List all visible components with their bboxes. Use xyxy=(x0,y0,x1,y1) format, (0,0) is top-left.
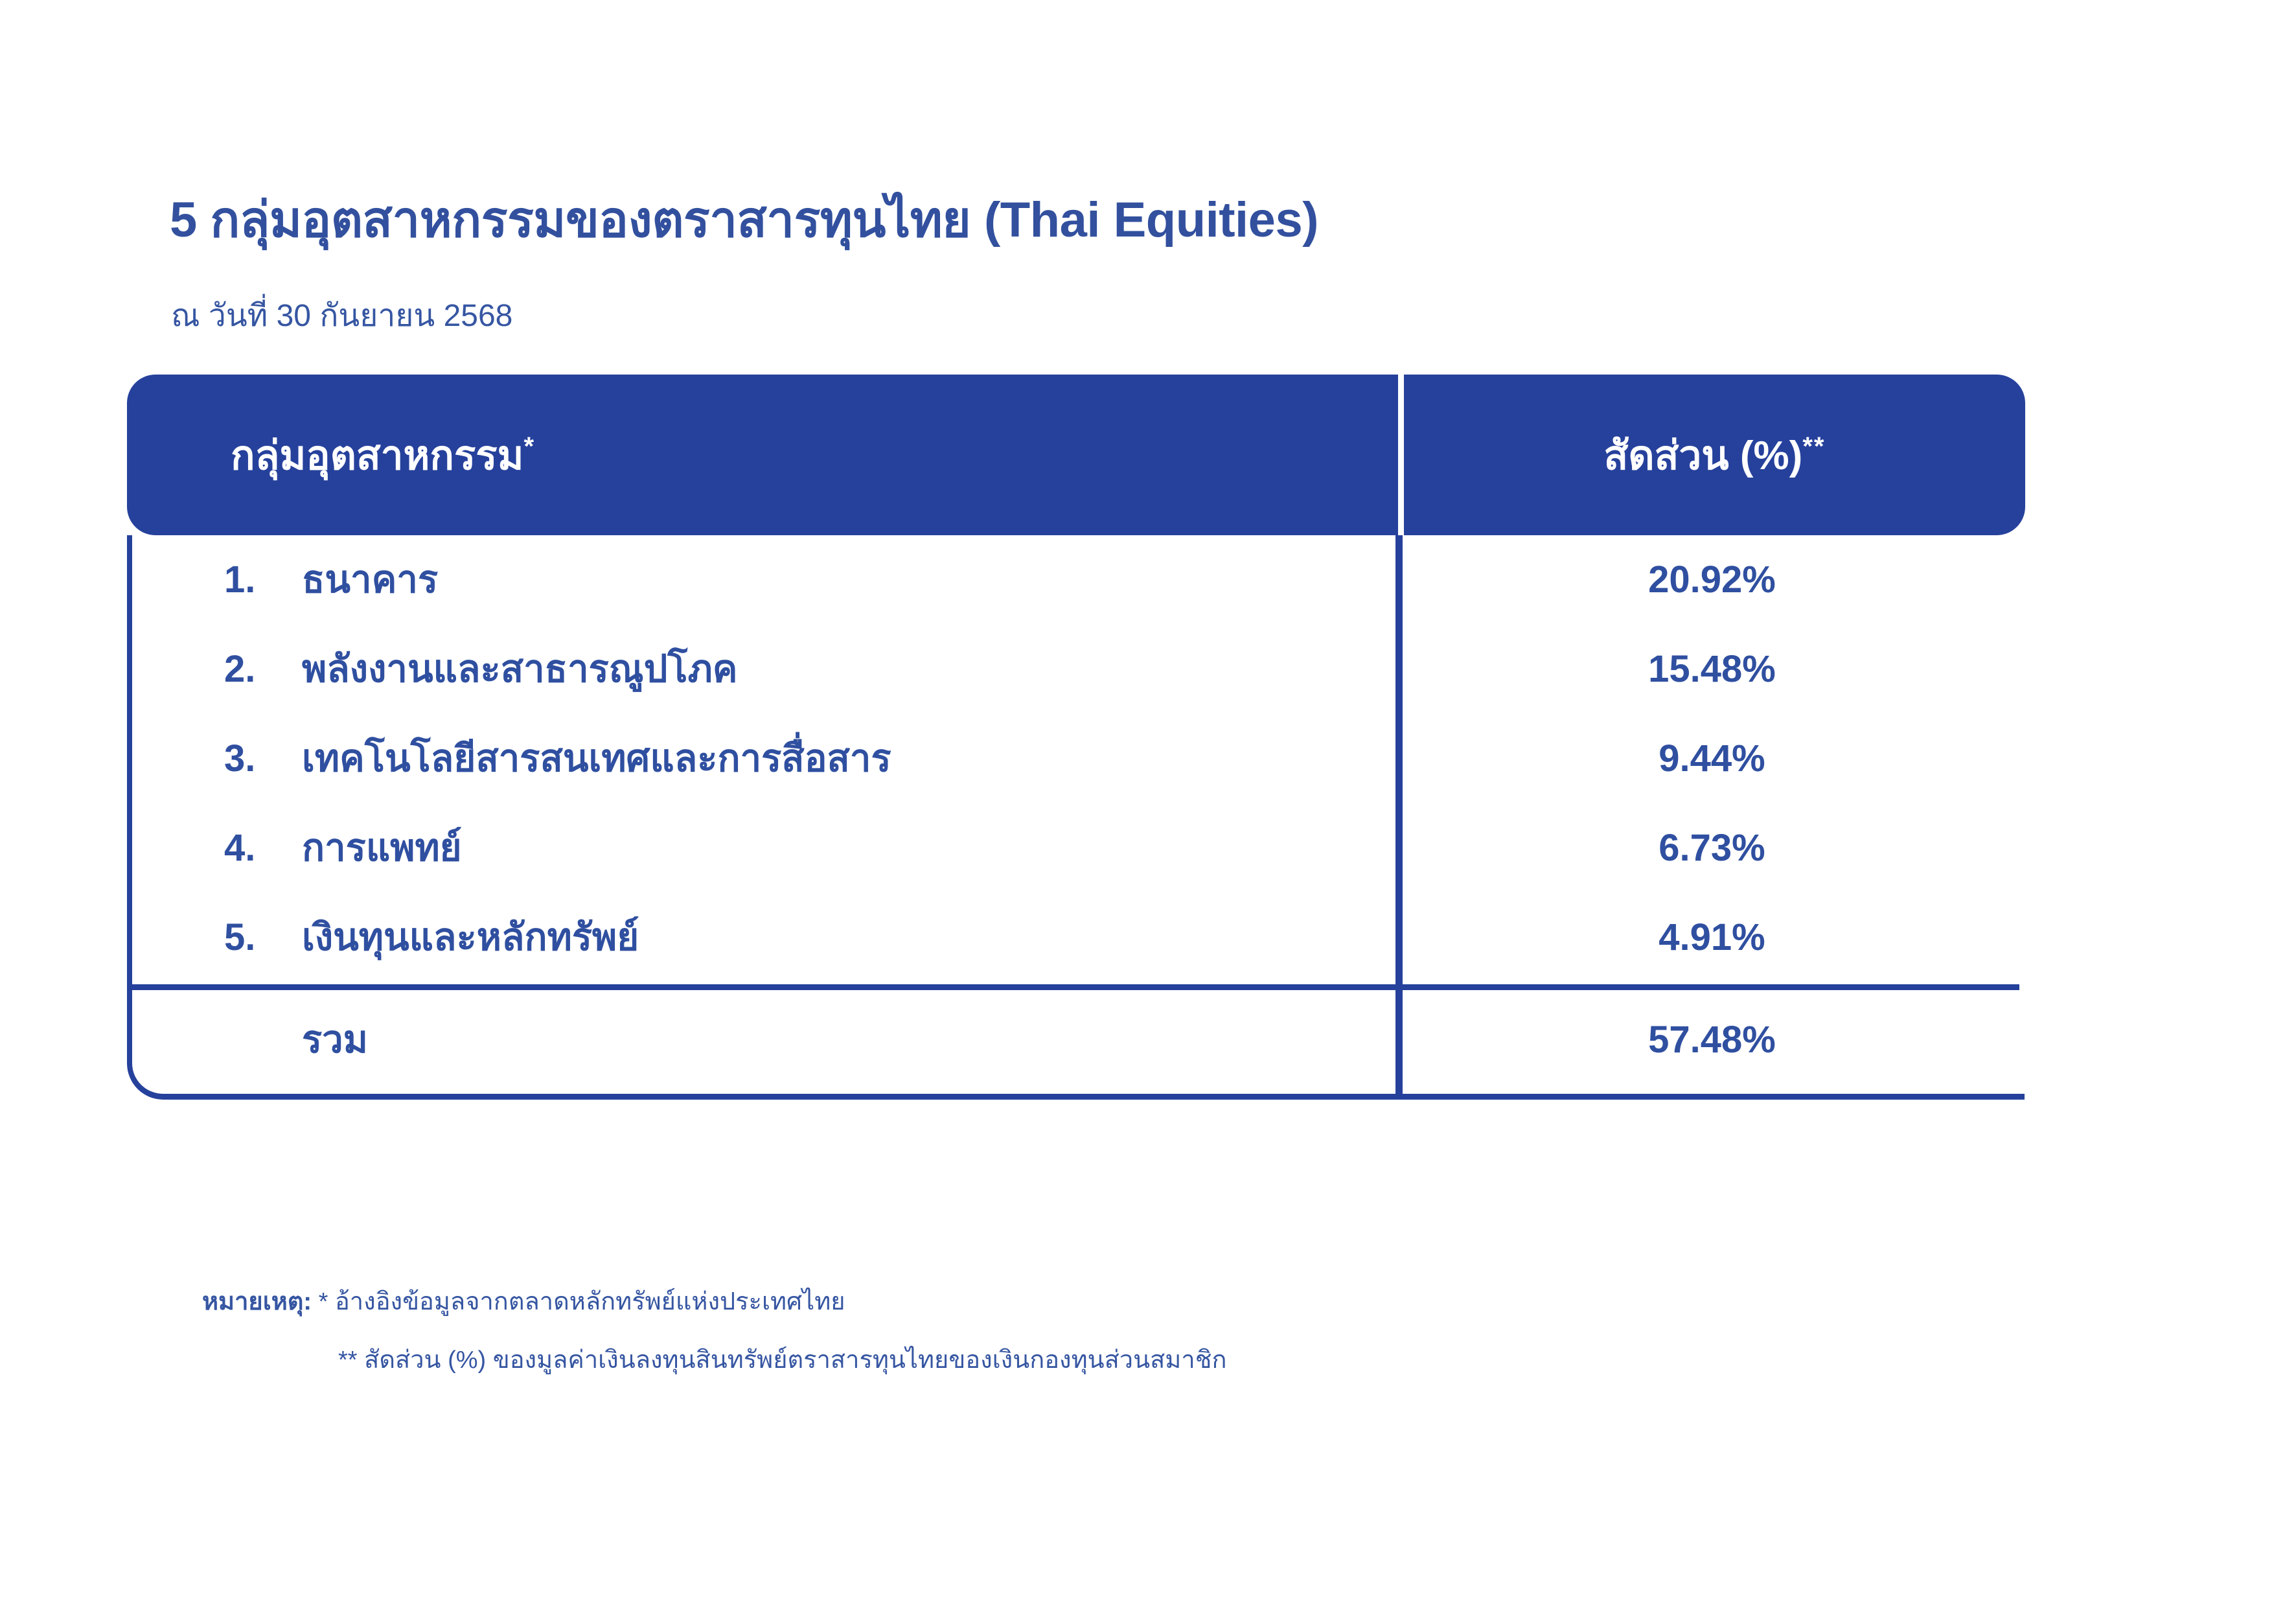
page-title: 5 กลุ่มอุตสาหกรรมของตราสารทุนไทย (Thai E… xyxy=(170,194,1318,246)
table-row: 3. เทคโนโลยีสารสนเทศและการสื่อสาร 9.44% xyxy=(127,714,2025,803)
footnote-label: หมายเหตุ: xyxy=(202,1288,312,1315)
total-label: รวม xyxy=(302,1021,368,1059)
column-header-share-marker: ** xyxy=(1802,432,1825,461)
row-index: 5. xyxy=(224,919,255,956)
column-header-share: สัดส่วน (%)** xyxy=(1404,434,2025,476)
table-total-row: รวม 57.48% xyxy=(127,982,2025,1098)
row-value: 20.92% xyxy=(1403,561,2021,599)
row-value: 6.73% xyxy=(1403,829,2021,867)
total-value: 57.48% xyxy=(1403,1021,2021,1059)
footnotes: หมายเหตุ: * อ้างอิงข้อมูลจากตลาดหลักทรัพ… xyxy=(202,1289,1227,1372)
table-row: 5. เงินทุนและหลักทรัพย์ 4.91% xyxy=(127,893,2025,982)
table-row: 2. พลังงานและสาธารณูปโภค 15.48% xyxy=(127,625,2025,714)
row-index: 2. xyxy=(224,651,255,688)
header-column-divider xyxy=(1398,375,1404,535)
footnote-two-text: ** สัดส่วน (%) ของมูลค่าเงินลงทุนสินทรัพ… xyxy=(338,1347,1227,1374)
column-header-industry: กลุ่มอุตสาหกรรม* xyxy=(231,434,535,476)
column-header-share-label: สัดส่วน (%) xyxy=(1604,434,1803,478)
industry-allocation-table: กลุ่มอุตสาหกรรม* สัดส่วน (%)** 1. ธนาคาร… xyxy=(127,375,2025,1098)
row-index: 1. xyxy=(224,561,255,599)
footnote-two: ** สัดส่วน (%) ของมูลค่าเงินลงทุนสินทรัพ… xyxy=(202,1348,1227,1372)
table-rows: 1. ธนาคาร 20.92% 2. พลังงานและสาธารณูปโภ… xyxy=(127,535,2025,1098)
table-row: 1. ธนาคาร 20.92% xyxy=(127,535,2025,625)
infographic-page: 5 กลุ่มอุตสาหกรรมของตราสารทุนไทย (Thai E… xyxy=(0,0,2296,1607)
row-label: เงินทุนและหลักทรัพย์ xyxy=(302,919,639,956)
column-header-industry-label: กลุ่มอุตสาหกรรม xyxy=(231,434,523,478)
row-label: พลังงานและสาธารณูปโภค xyxy=(302,651,738,688)
table-body-wrapper: 1. ธนาคาร 20.92% 2. พลังงานและสาธารณูปโภ… xyxy=(127,535,2025,1098)
table-header: กลุ่มอุตสาหกรรม* สัดส่วน (%)** xyxy=(127,375,2025,535)
row-label: เทคโนโลยีสารสนเทศและการสื่อสาร xyxy=(302,740,891,778)
row-label: ธนาคาร xyxy=(302,561,438,599)
row-index: 3. xyxy=(224,740,255,778)
footnote-one-text: * อ้างอิงข้อมูลจากตลาดหลักทรัพย์แห่งประเ… xyxy=(312,1288,845,1315)
column-header-industry-marker: * xyxy=(523,432,535,461)
page-subtitle: ณ วันที่ 30 กันยายน 2568 xyxy=(171,299,512,334)
row-index: 4. xyxy=(224,829,255,867)
table-row: 4. การแพทย์ 6.73% xyxy=(127,803,2025,893)
row-value: 15.48% xyxy=(1403,651,2021,688)
footnote-one: หมายเหตุ: * อ้างอิงข้อมูลจากตลาดหลักทรัพ… xyxy=(202,1289,1227,1314)
row-label: การแพทย์ xyxy=(302,829,462,867)
row-value: 4.91% xyxy=(1403,919,2021,956)
row-value: 9.44% xyxy=(1403,740,2021,778)
